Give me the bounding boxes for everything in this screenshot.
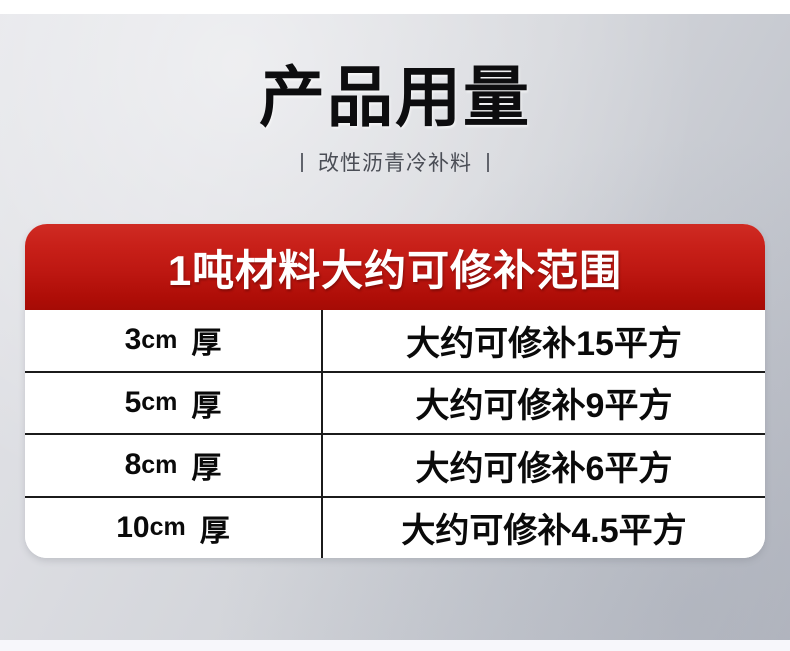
- bottom-white-strip: [0, 640, 790, 651]
- coverage-table: 3cm厚 大约可修补15平方 5cm厚 大约可修补9平方 8cm厚 大约可修补6…: [25, 310, 765, 558]
- page-title: 产品用量: [0, 62, 790, 133]
- thickness-unit: cm: [150, 513, 186, 542]
- thickness-word: 厚: [191, 443, 221, 487]
- page-subtitle-row: 改性沥青冷补料: [0, 147, 790, 177]
- coverage-cell: 大约可修补4.5平方: [323, 498, 765, 559]
- table-row: 10cm厚 大约可修补4.5平方: [25, 498, 765, 559]
- thickness-cell: 3cm厚: [25, 310, 323, 371]
- thickness-unit: cm: [141, 326, 177, 355]
- coverage-cell: 大约可修补6平方: [323, 435, 765, 496]
- thickness-cell: 8cm厚: [25, 435, 323, 496]
- subtitle-left-bar-icon: [301, 153, 303, 172]
- card-header-title: 1吨材料大约可修补范围: [168, 237, 622, 298]
- coverage-cell: 大约可修补15平方: [323, 310, 765, 371]
- thickness-word: 厚: [191, 381, 221, 425]
- thickness-unit: cm: [141, 451, 177, 480]
- thickness-cell: 10cm厚: [25, 498, 323, 559]
- subtitle-right-bar-icon: [487, 153, 489, 172]
- heading-block: 产品用量 改性沥青冷补料: [0, 62, 790, 177]
- thickness-unit: cm: [141, 388, 177, 417]
- thickness-value: 5: [125, 386, 142, 420]
- thickness-value: 8: [125, 448, 142, 482]
- top-white-strip: [0, 0, 790, 14]
- thickness-value: 3: [125, 323, 142, 357]
- thickness-cell: 5cm厚: [25, 373, 323, 434]
- coverage-card: 1吨材料大约可修补范围 3cm厚 大约可修补15平方 5cm厚 大约可修补9平方…: [25, 224, 765, 558]
- card-header-banner: 1吨材料大约可修补范围: [25, 224, 765, 310]
- thickness-word: 厚: [200, 506, 230, 550]
- table-row: 8cm厚 大约可修补6平方: [25, 435, 765, 498]
- table-row: 3cm厚 大约可修补15平方: [25, 310, 765, 373]
- thickness-word: 厚: [191, 318, 221, 362]
- table-row: 5cm厚 大约可修补9平方: [25, 373, 765, 436]
- product-usage-infographic: 产品用量 改性沥青冷补料 1吨材料大约可修补范围 3cm厚 大约可修补15平方 …: [0, 0, 790, 651]
- thickness-value: 10: [116, 511, 149, 545]
- coverage-cell: 大约可修补9平方: [323, 373, 765, 434]
- page-subtitle: 改性沥青冷补料: [318, 147, 472, 177]
